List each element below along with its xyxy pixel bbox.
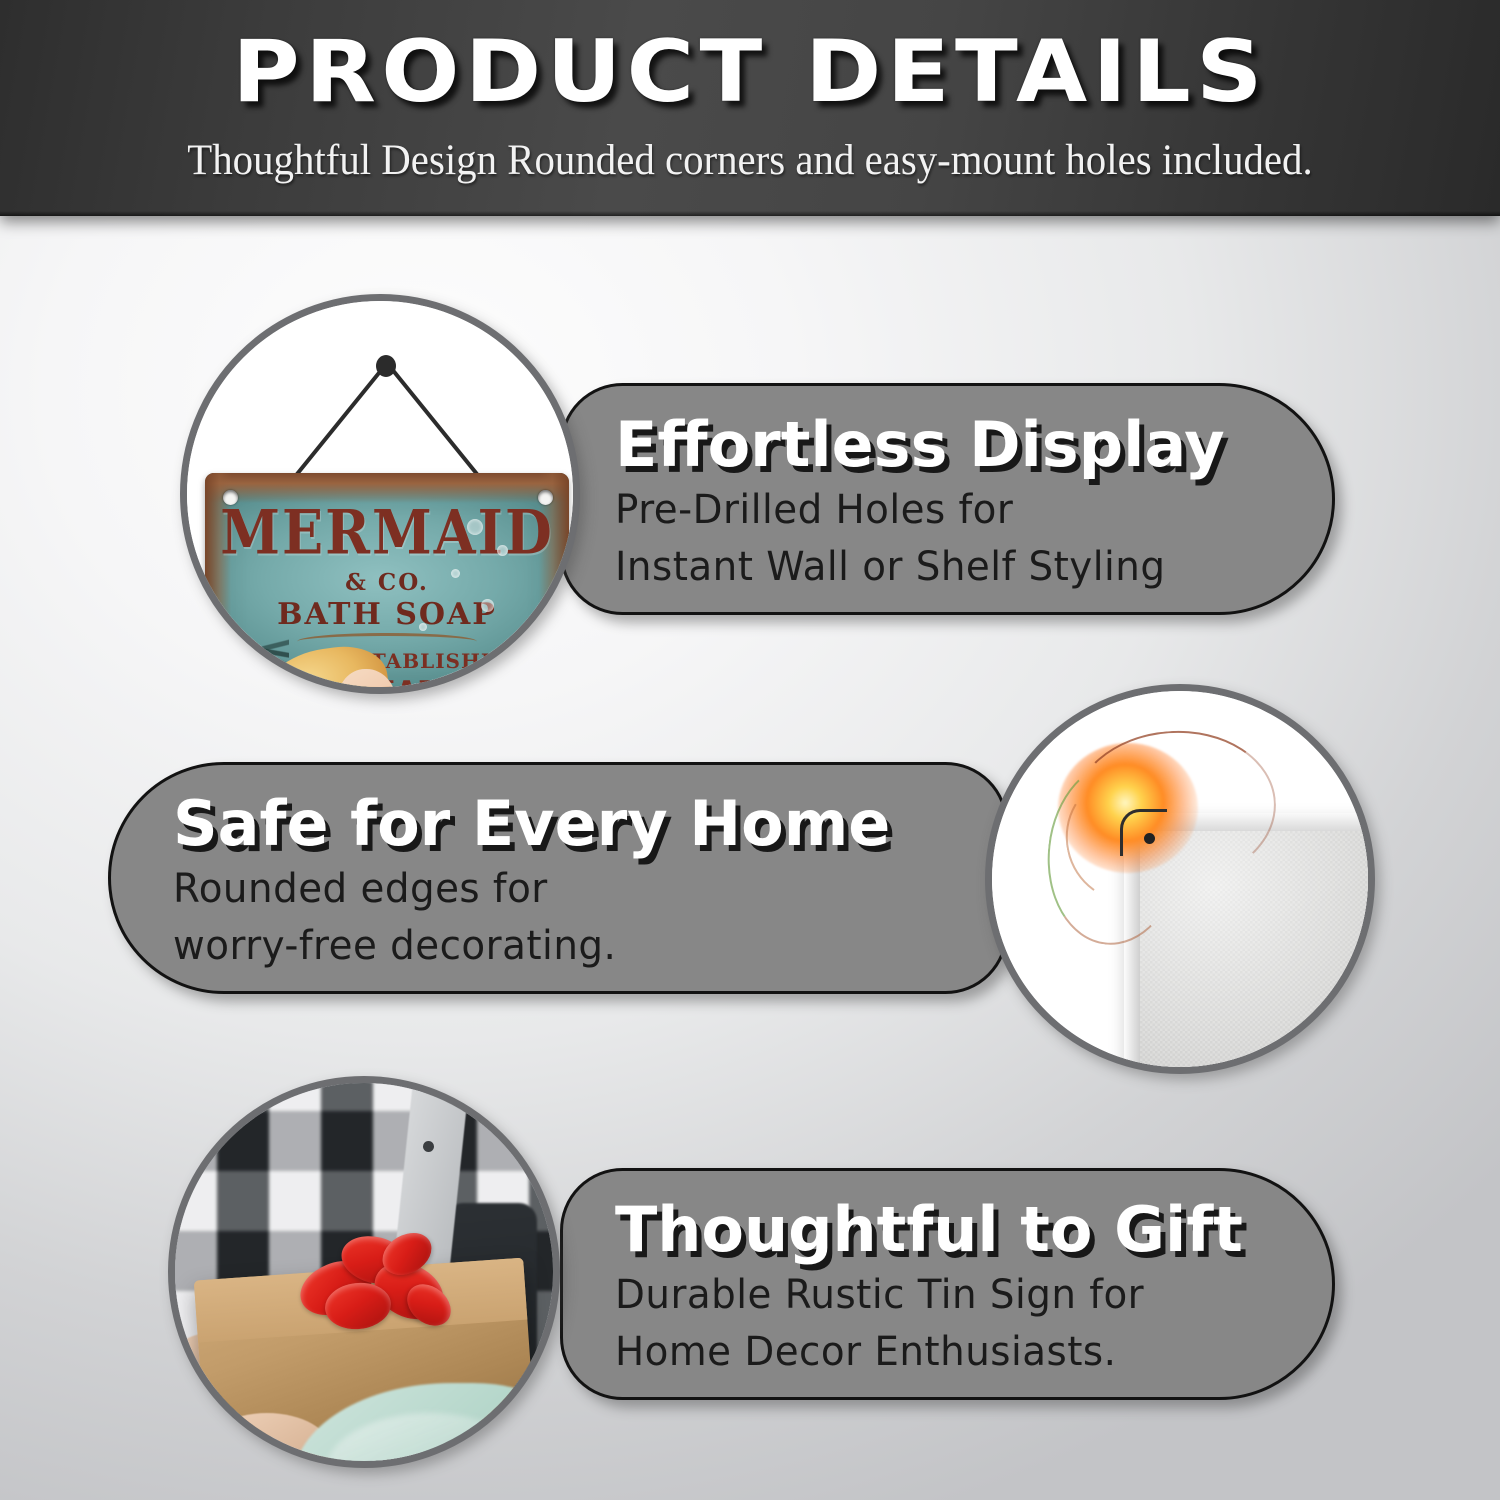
hanging-mermaid-tin-sign-photo: MERMAID & CO. BATH SOAP 19-ESTABLISHED-5… — [180, 294, 580, 694]
product-details-infographic: PRODUCT DETAILS Thoughtful Design Rounde… — [0, 0, 1500, 1500]
rounded-corner-macro-photo — [985, 684, 1375, 1074]
feature-body-line1-safe-for-every-home: Rounded edges for — [173, 861, 869, 918]
bubble-1 — [467, 519, 483, 535]
feature-title-effortless-display: Effortless Display — [615, 408, 1225, 482]
feature-body-line1-thoughtful-to-gift: Durable Rustic Tin Sign for — [615, 1267, 1224, 1324]
bubble-2 — [497, 545, 508, 556]
tin-sign-scene: MERMAID & CO. BATH SOAP 19-ESTABLISHED-5… — [187, 301, 573, 687]
header-banner: PRODUCT DETAILS Thoughtful Design Rounde… — [0, 0, 1500, 216]
tin-sign-wash: WASH — [378, 671, 547, 694]
bubble-4 — [481, 599, 494, 612]
feature-title-safe-for-every-home: Safe for Every Home — [173, 787, 890, 861]
tin-sign-product: BATH SOAP — [205, 597, 569, 632]
page-title: PRODUCT DETAILS — [0, 24, 1500, 120]
header-subtitle: Thoughtful Design Rounded corners and ea… — [38, 134, 1463, 188]
bubble-3 — [451, 569, 460, 578]
bubble-5 — [419, 623, 427, 631]
red-ribbon-bow — [285, 1229, 455, 1341]
gift-handoff-photo — [168, 1076, 560, 1468]
corner-accent-dot — [1144, 833, 1155, 844]
tin-sign-flourish — [297, 633, 477, 650]
rounded-corner-scene — [992, 691, 1368, 1067]
feature-callout-effortless-display: Effortless Display Pre-Drilled Holes for… — [560, 383, 1335, 615]
shirt-button — [423, 1141, 434, 1152]
feature-body-line2-safe-for-every-home: worry-free decorating. — [173, 918, 869, 975]
feature-callout-thoughtful-to-gift: Thoughtful to Gift Durable Rustic Tin Si… — [560, 1168, 1335, 1400]
gift-handoff-scene — [175, 1083, 553, 1461]
cord-knob — [376, 355, 396, 377]
feature-title-thoughtful-to-gift: Thoughtful to Gift — [615, 1193, 1243, 1267]
feature-body-line2-effortless-display: Instant Wall or Shelf Styling — [615, 539, 1206, 596]
feature-callout-safe-for-every-home: Safe for Every Home Rounded edges for wo… — [108, 762, 1008, 994]
feature-body-line1-effortless-display: Pre-Drilled Holes for — [615, 482, 1206, 539]
tin-sign-and-co: & CO. — [205, 569, 569, 596]
tin-sign-plate: MERMAID & CO. BATH SOAP 19-ESTABLISHED-5… — [205, 473, 569, 694]
tin-sign-brand: MERMAID — [205, 500, 569, 565]
feature-body-line2-thoughtful-to-gift: Home Decor Enthusiasts. — [615, 1324, 1224, 1381]
